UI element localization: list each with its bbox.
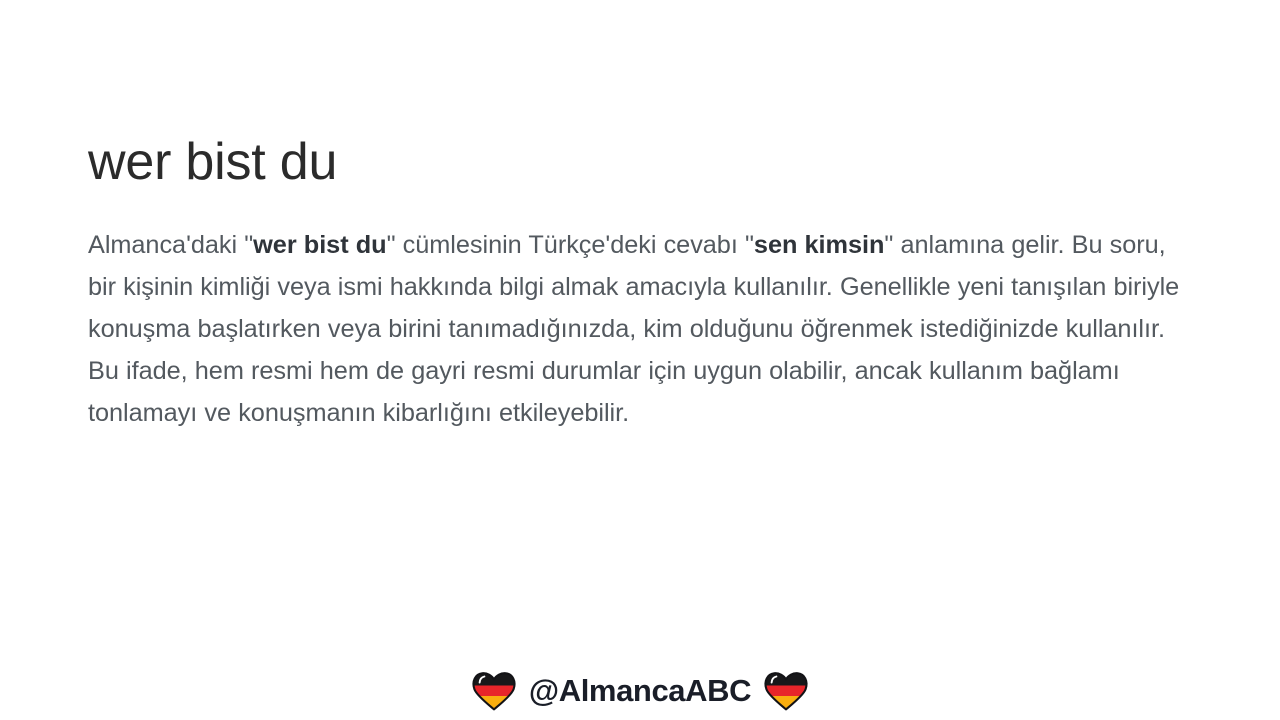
footer-watermark: @AlmancaABC xyxy=(0,659,1280,720)
body-segment-plain-3: " anlamına gelir. Bu soru, bir kişinin k… xyxy=(88,231,1179,427)
page-title: wer bist du xyxy=(88,133,1192,191)
body-segment-bold-turkish-phrase: sen kimsin xyxy=(754,231,884,259)
body-segment-plain-2: " cümlesinin Türkçe'deki cevabı " xyxy=(387,231,754,259)
page-root: wer bist du Almanca'daki "wer bist du" c… xyxy=(0,0,1280,720)
article: wer bist du Almanca'daki "wer bist du" c… xyxy=(88,133,1192,434)
german-flag-heart-icon xyxy=(471,668,517,712)
account-handle: @AlmancaABC xyxy=(529,675,751,706)
article-body-text: Almanca'daki "wer bist du" cümlesinin Tü… xyxy=(88,224,1192,434)
body-segment-bold-german-phrase: wer bist du xyxy=(253,231,386,259)
body-segment-plain-1: Almanca'daki " xyxy=(88,231,253,259)
german-flag-heart-icon xyxy=(763,668,809,712)
